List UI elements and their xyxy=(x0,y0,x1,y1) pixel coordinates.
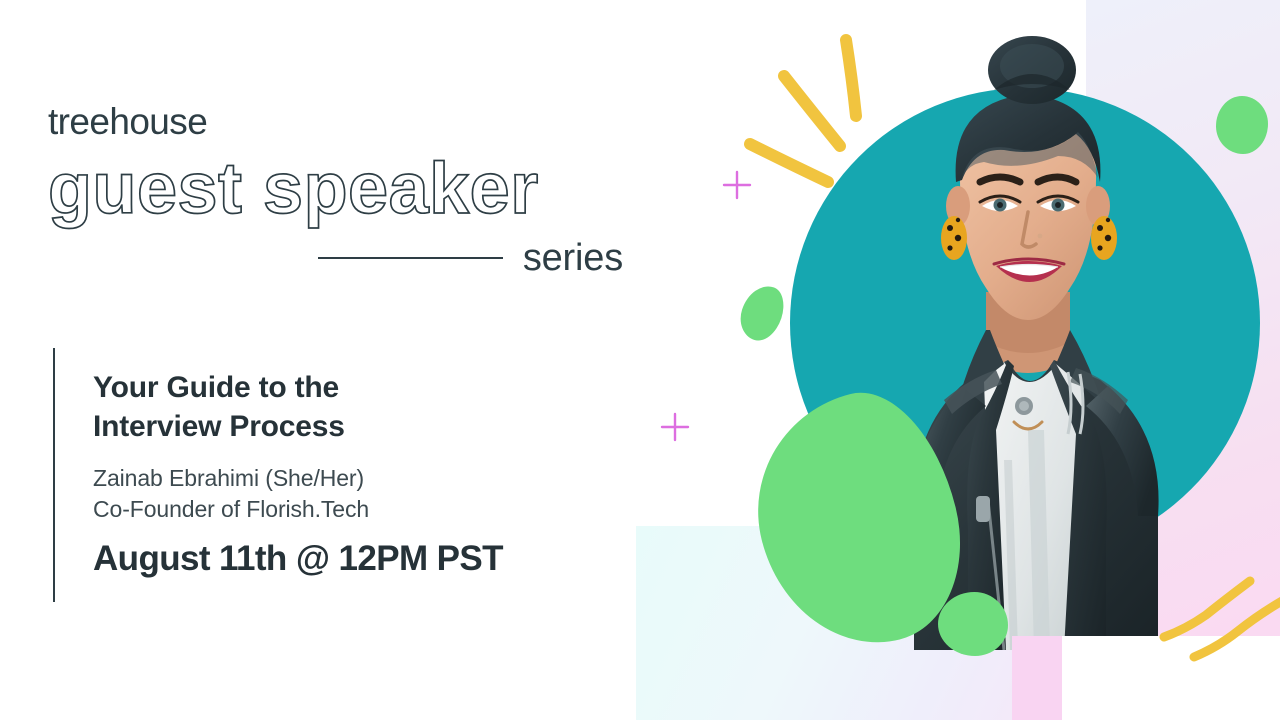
plus-icon xyxy=(660,412,690,442)
brand-headline-block: treehouse guest speaker series xyxy=(48,103,648,277)
series-divider-rule xyxy=(318,257,503,259)
plus-icon xyxy=(722,170,752,200)
treehouse-wordmark: treehouse xyxy=(48,103,648,140)
yellow-wave-icon xyxy=(1160,575,1280,665)
background-panel-pink-bottom-left xyxy=(1012,636,1062,720)
guest-speaker-headline: guest speaker xyxy=(48,153,648,225)
speaker-role: Co-Founder of Florish.Tech xyxy=(93,494,503,525)
yellow-sparkle-icon xyxy=(740,30,900,190)
talk-title: Your Guide to the Interview Process xyxy=(93,368,503,446)
event-datetime: August 11th @ 12PM PST xyxy=(93,540,503,579)
green-blob-bottom xyxy=(938,592,1008,656)
guest-speaker-promo-slide: treehouse guest speaker series Your Guid… xyxy=(0,0,1280,720)
series-row: series xyxy=(48,239,623,277)
green-blob-small-left xyxy=(734,280,789,346)
series-label: series xyxy=(523,239,623,277)
event-details-block: Your Guide to the Interview Process Zain… xyxy=(53,348,503,602)
speaker-name: Zainab Ebrahimi (She/Her) xyxy=(93,463,503,494)
